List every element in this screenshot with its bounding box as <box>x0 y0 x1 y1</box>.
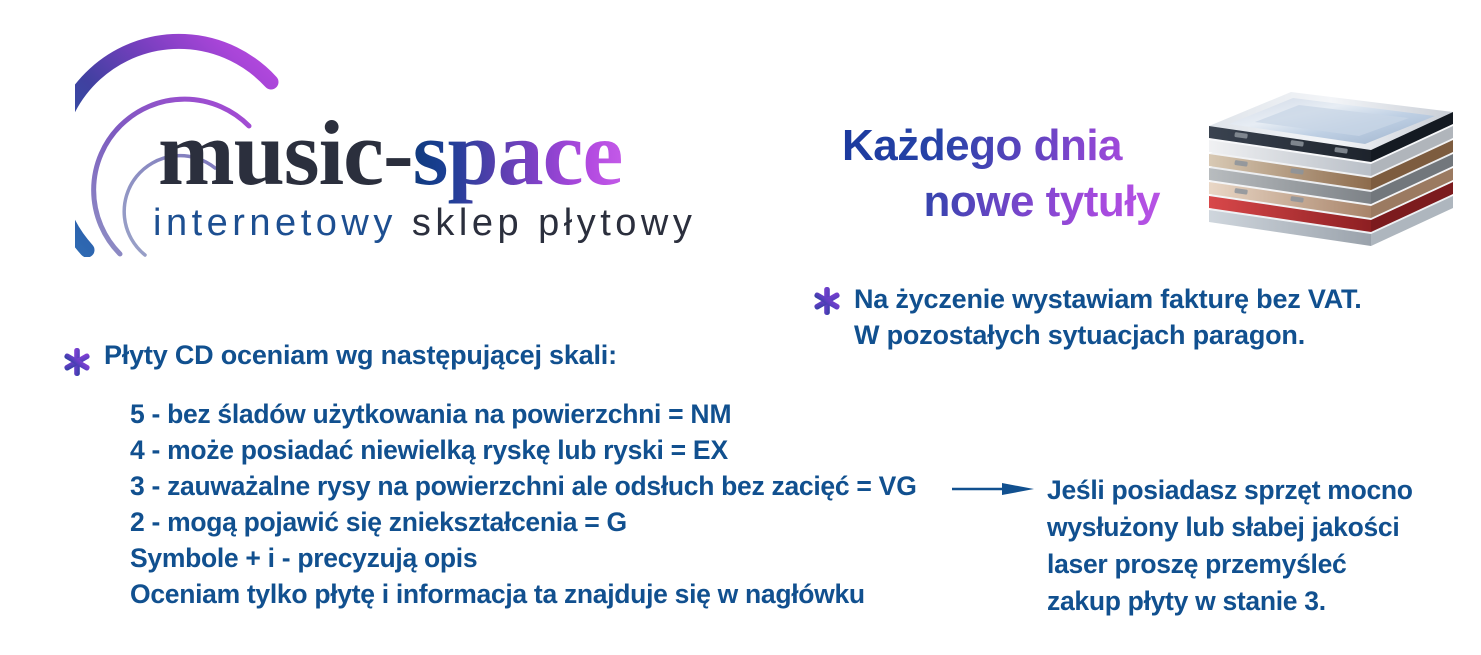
scale-item-grade: EX <box>693 435 728 465</box>
logo-tagline-part1: internetowy <box>153 202 412 244</box>
scale-item-text: Symbole + i - precyzują opis <box>130 543 477 573</box>
asterisk-star-icon <box>62 347 92 377</box>
scale-item-text: 2 - mogą pojawić się zniekształcenia = <box>130 507 607 537</box>
laser-note-line-2: wysłużony lub słabej jakości <box>1047 509 1447 546</box>
scale-heading-text: Płyty CD oceniam wg następującej skali: <box>104 338 617 373</box>
brand-logo[interactable]: music-space internetowy sklep płytowy <box>75 22 775 252</box>
list-item: 2 - mogą pojawić się zniekształcenia = G <box>130 504 960 540</box>
laser-note-line-1: Jeśli posiadasz sprzęt mocno <box>1047 472 1447 509</box>
scale-item-grade: G <box>607 507 628 537</box>
cd-jewel-case-stack-image <box>1195 60 1465 285</box>
vat-note-line-2: W pozostałych sytuacjach paragon. <box>854 318 1362 354</box>
logo-wordmark: music-space <box>158 107 622 199</box>
logo-word-space: space <box>413 102 623 204</box>
laser-note: Jeśli posiadasz sprzęt mocno wysłużony l… <box>1047 472 1447 620</box>
list-item: 3 - zauważalne rysy na powierzchni ale o… <box>130 468 960 504</box>
laser-note-line-3: laser proszę przemyśleć <box>1047 546 1447 583</box>
headline-line-2: nowe tytuły <box>842 174 1172 230</box>
vat-note-line-1: Na życzenie wystawiam fakturę bez VAT. <box>854 282 1362 318</box>
scale-item-grade: VG <box>879 471 917 501</box>
vat-note: Na życzenie wystawiam fakturę bez VAT. W… <box>812 282 1432 354</box>
arrow-right-icon <box>950 480 1042 498</box>
scale-heading: Płyty CD oceniam wg następującej skali: <box>62 338 702 377</box>
list-item: Symbole + i - precyzują opis <box>130 540 960 576</box>
logo-tagline-part2: sklep płytowy <box>412 202 696 244</box>
scale-item-text: 5 - bez śladów użytkowania na powierzchn… <box>130 399 690 429</box>
list-item: 4 - może posiadać niewielką ryskę lub ry… <box>130 432 960 468</box>
list-item: Oceniam tylko płytę i informacja ta znaj… <box>130 576 960 612</box>
banner-canvas: music-space internetowy sklep płytowy Ka… <box>0 0 1481 655</box>
scale-heading-rest: oceniam wg następującej skali: <box>213 340 616 370</box>
scale-heading-bold: Płyty CD <box>104 340 213 370</box>
headline-line-1: Każdego dnia <box>842 118 1172 174</box>
scale-item-text: Oceniam tylko płytę i informacja ta znaj… <box>130 579 865 609</box>
scale-list: 5 - bez śladów użytkowania na powierzchn… <box>130 396 960 612</box>
logo-tagline: internetowy sklep płytowy <box>153 204 696 242</box>
scale-item-text: 3 - zauważalne rysy na powierzchni ale o… <box>130 471 879 501</box>
scale-item-text: 4 - może posiadać niewielką ryskę lub ry… <box>130 435 693 465</box>
list-item: 5 - bez śladów użytkowania na powierzchn… <box>130 396 960 432</box>
scale-item-grade: NM <box>690 399 731 429</box>
asterisk-star-icon <box>812 286 842 316</box>
laser-note-line-4: zakup płyty w stanie 3. <box>1047 583 1447 620</box>
logo-word-music: music- <box>158 102 413 204</box>
vat-note-text: Na życzenie wystawiam fakturę bez VAT. W… <box>854 282 1362 354</box>
headline: Każdego dnia nowe tytuły <box>842 118 1172 231</box>
